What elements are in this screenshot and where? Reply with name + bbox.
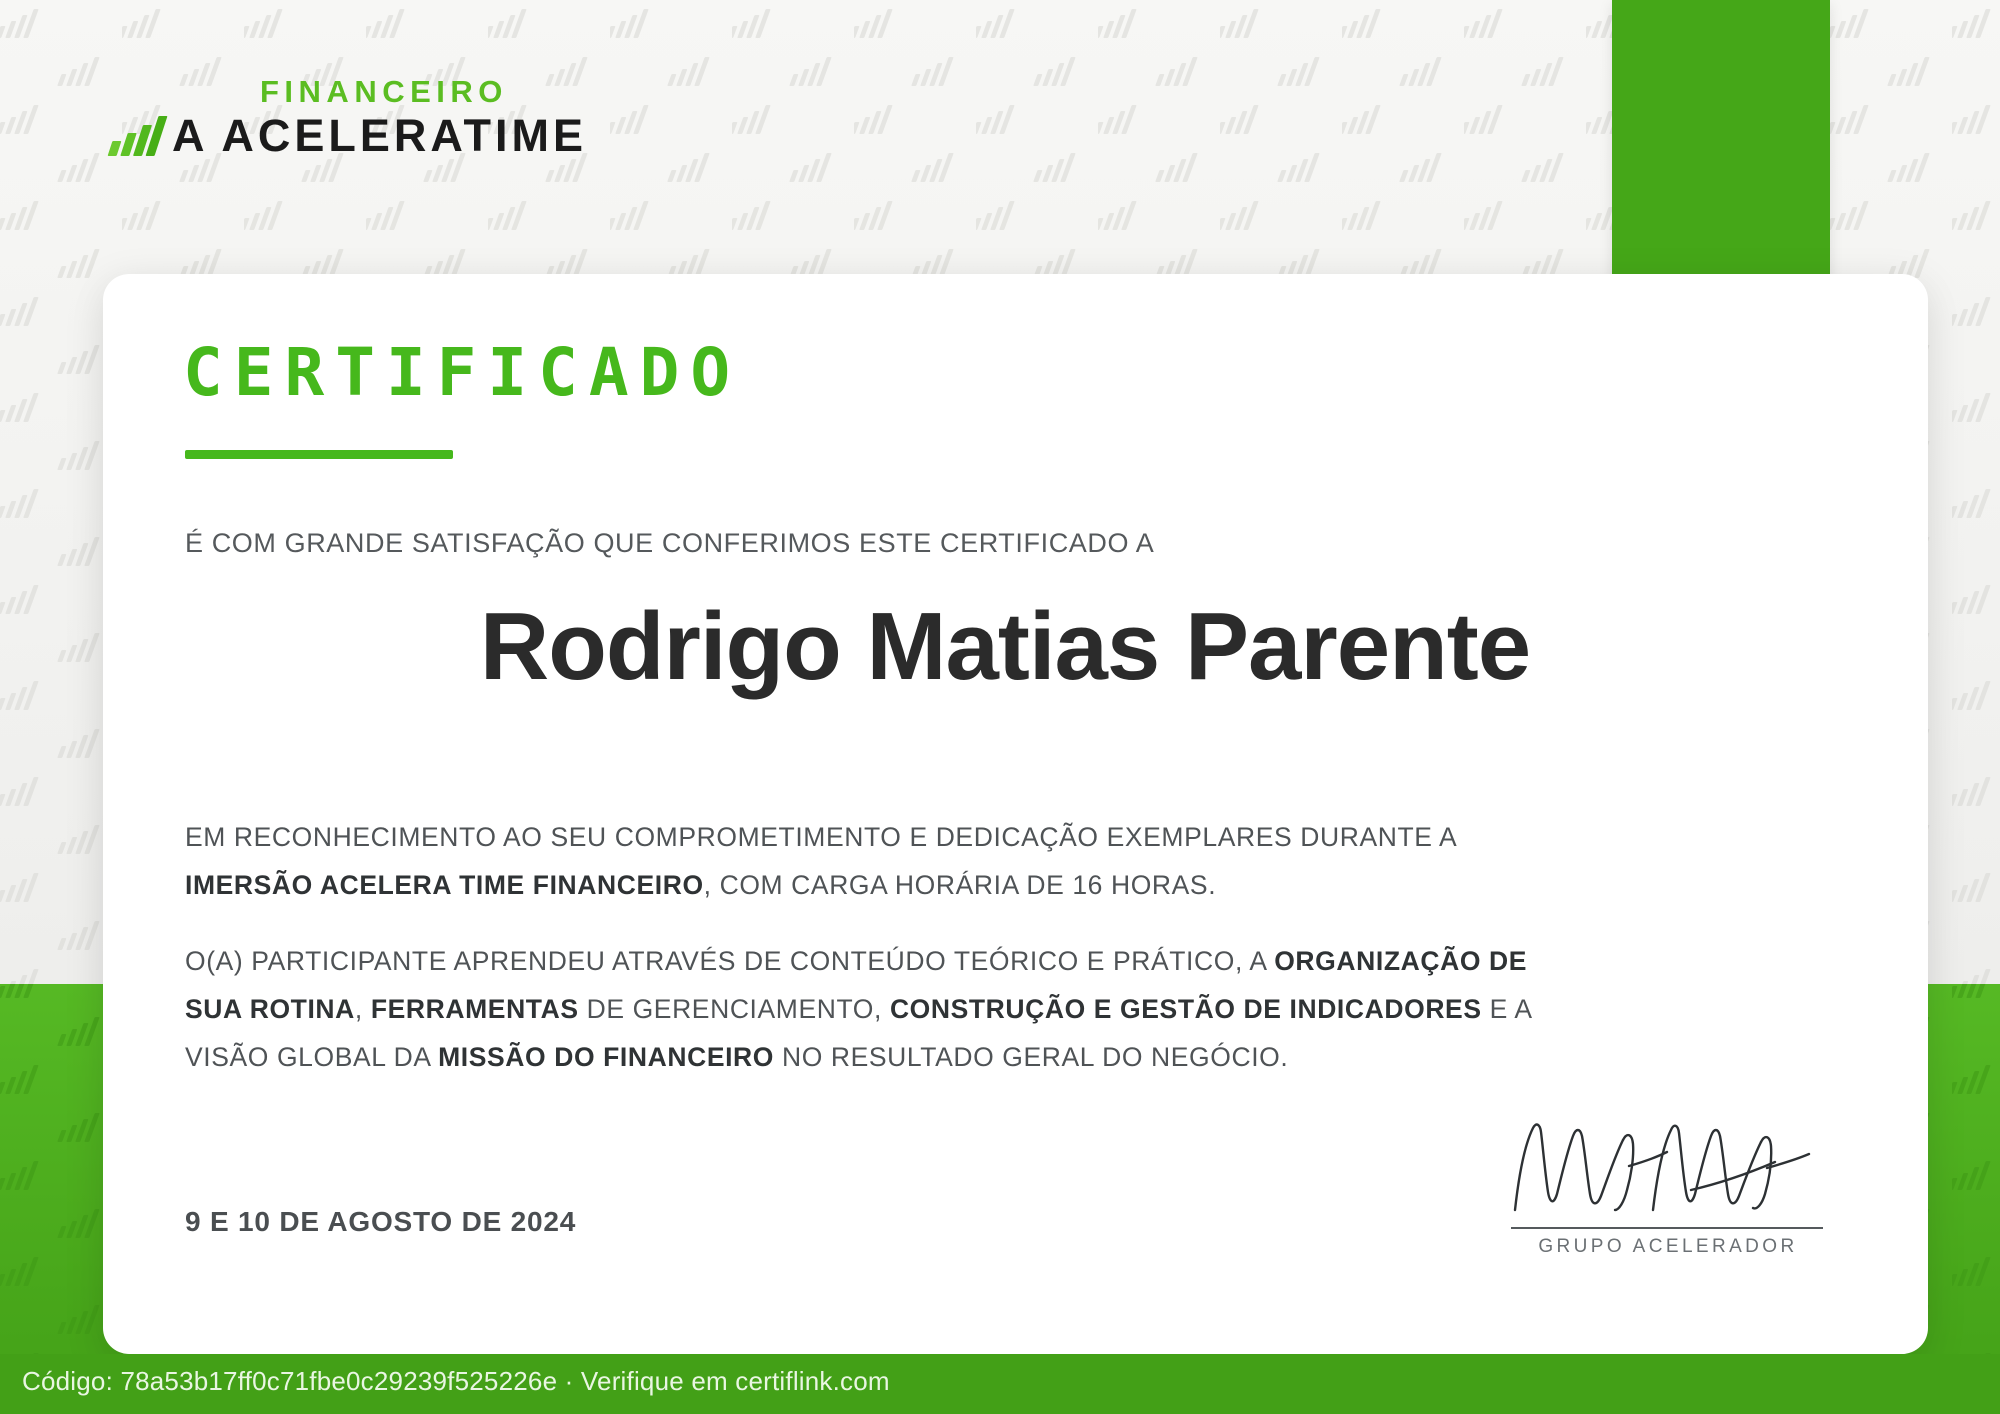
handwritten-signature-icon — [1503, 1114, 1833, 1226]
logo-acceleratime-text: A ACELERATIME — [172, 110, 587, 162]
course-name: IMERSÃO ACELERA TIME FINANCEIRO — [185, 870, 704, 900]
signature-caption: GRUPO ACELERADOR — [1503, 1236, 1833, 1258]
certificate-date: 9 E 10 DE AGOSTO DE 2024 — [185, 1206, 576, 1238]
paragraph2-line1-bold: ORGANIZAÇÃO DE — [1274, 946, 1527, 976]
recipient-name: Rodrigo Matias Parente — [255, 592, 1755, 702]
paragraph1-line2-rest: , COM CARGA HORÁRIA DE 16 HORAS. — [704, 870, 1217, 900]
paragraph2-line3-plain-b: NO RESULTADO GERAL DO NEGÓCIO. — [774, 1042, 1288, 1072]
topic-missao: MISSÃO DO FINANCEIRO — [438, 1042, 774, 1072]
paragraph2-line2-plain-b: DE GERENCIAMENTO, — [579, 994, 890, 1024]
intro-text: É COM GRANDE SATISFAÇÃO QUE CONFERIMOS E… — [185, 528, 1154, 559]
paragraph2-line2: SUA ROTINA, FERRAMENTAS DE GERENCIAMENTO… — [185, 994, 1533, 1025]
certificate-card: CERTIFICADO É COM GRANDE SATISFAÇÃO QUE … — [103, 274, 1928, 1354]
brand-logo: FINANCEIRO A ACELERATIME — [110, 74, 730, 160]
verification-code-text: Código: 78a53b17ff0c71fbe0c29239f525226e… — [22, 1366, 890, 1397]
paragraph1-line1: EM RECONHECIMENTO AO SEU COMPROMETIMENTO… — [185, 822, 1457, 853]
title-underline-rule — [185, 450, 453, 459]
logo-main-word: ACELERATIME — [221, 110, 587, 161]
topic-ferramentas: FERRAMENTAS — [371, 994, 579, 1024]
topic-indicadores: CONSTRUÇÃO E GESTÃO DE INDICADORES — [890, 994, 1482, 1024]
paragraph2-line2-sep: , — [355, 994, 371, 1024]
signature-block: GRUPO ACELERADOR — [1503, 1114, 1833, 1264]
signature-rule — [1511, 1227, 1823, 1229]
paragraph2-line3-plain-a: VISÃO GLOBAL DA — [185, 1042, 438, 1072]
paragraph2-line1: O(A) PARTICIPANTE APRENDEU ATRAVÉS DE CO… — [185, 946, 1527, 977]
paragraph1-line2: IMERSÃO ACELERA TIME FINANCEIRO, COM CAR… — [185, 870, 1216, 901]
page-title: CERTIFICADO — [183, 340, 741, 406]
paragraph2-line3: VISÃO GLOBAL DA MISSÃO DO FINANCEIRO NO … — [185, 1042, 1288, 1073]
certificate-page: FINANCEIRO A ACELERATIME CERTIFICADO É C… — [0, 0, 2000, 1414]
topic-rotina: SUA ROTINA — [185, 994, 355, 1024]
logo-lead-letter: A — [172, 110, 207, 161]
paragraph2-line2-plain-c: E A — [1482, 994, 1533, 1024]
logo-financeiro-text: FINANCEIRO — [260, 74, 508, 110]
paragraph2-line1-plain: O(A) PARTICIPANTE APRENDEU ATRAVÉS DE CO… — [185, 946, 1274, 976]
